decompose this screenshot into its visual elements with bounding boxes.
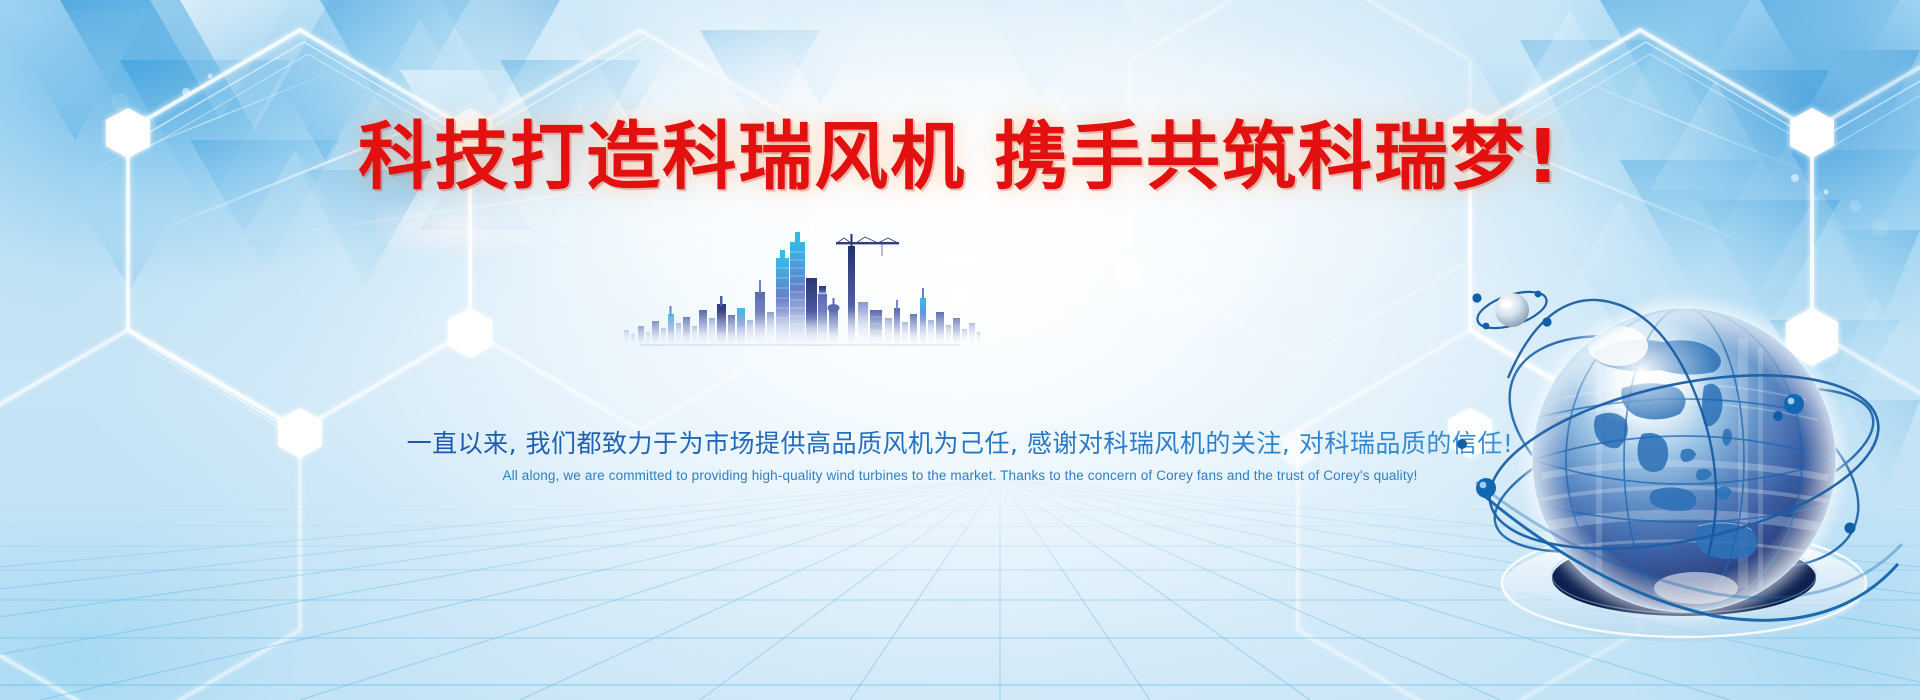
promo-banner: 科技打造科瑞风机 携手共筑科瑞梦! 一直以来, 我们都致力于为市场提供高品质风机…	[0, 0, 1920, 700]
light-streaks	[0, 0, 1920, 700]
subtitle-chinese: 一直以来, 我们都致力于为市场提供高品质风机为己任, 感谢对科瑞风机的关注, 对…	[0, 424, 1920, 460]
subtitle-english: All along, we are committed to providing…	[0, 468, 1920, 483]
